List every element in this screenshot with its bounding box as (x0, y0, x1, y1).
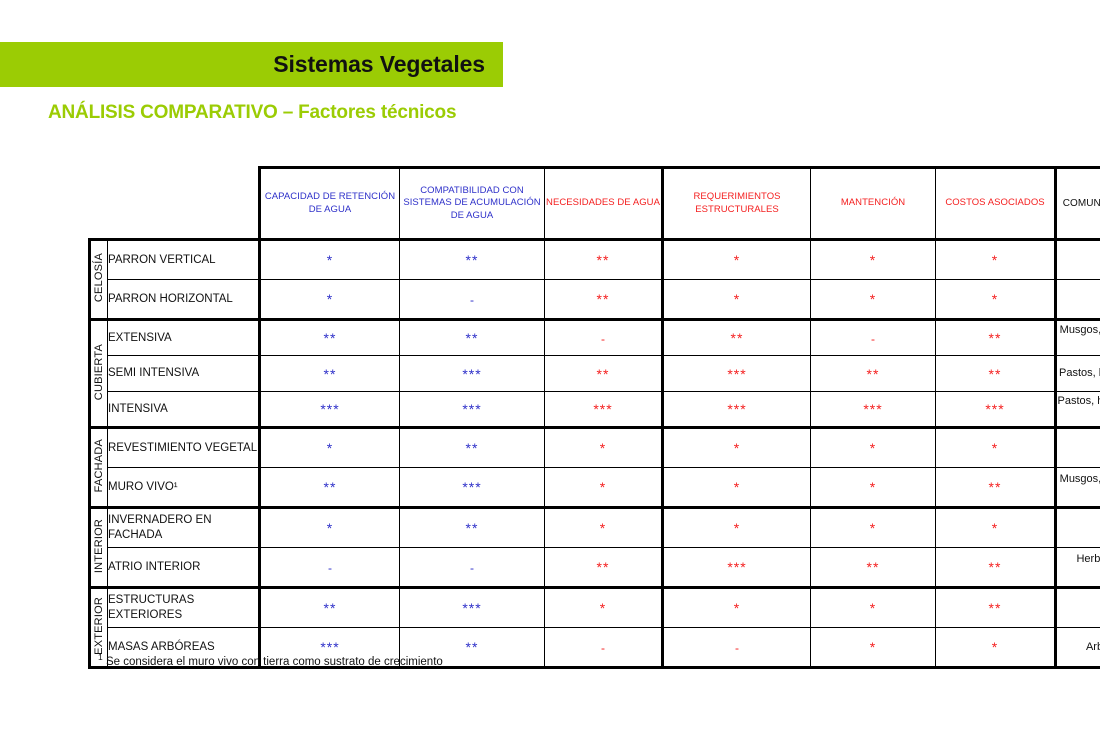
footnote-text: Se considera el muro vivo con tierra com… (106, 656, 443, 668)
col-header-comunidades: COMUNIDADES VEGETALES (1056, 168, 1100, 240)
rating-cell-requerimientos: * (663, 508, 811, 548)
rating-cell-mantencion: * (811, 280, 936, 320)
rating-cell-necesidades: ** (545, 280, 663, 320)
rating-cell-mantencion: ** (811, 548, 936, 588)
header-spacer-name (108, 168, 260, 240)
table-body: CELOSÍAPARRON VERTICAL********Trepadoras… (90, 240, 1100, 668)
rating-cell-compatibilidad: - (400, 548, 545, 588)
rating-cell-retencion: ** (260, 356, 400, 392)
row-label: EXTENSIVA (108, 320, 260, 356)
plant-communities-cell: Musgos, sedum, herbáceas y pastos (1056, 468, 1100, 508)
rating-cell-costos: ** (936, 588, 1056, 628)
comparison-table: CAPACIDAD DE RETENCIÓN DE AGUA COMPATIBI… (88, 166, 1100, 669)
row-group-category-label: FACHADA (94, 439, 105, 492)
plant-communities-cell: Trepadoras (1056, 508, 1100, 548)
rating-cell-mantencion: * (811, 588, 936, 628)
rating-cell-requerimientos: * (663, 468, 811, 508)
row-label: ESTRUCTURAS EXTERIORES (108, 588, 260, 628)
rating-cell-requerimientos: ** (663, 320, 811, 356)
rating-cell-costos: * (936, 240, 1056, 280)
rating-cell-costos: ** (936, 320, 1056, 356)
rating-cell-retencion: * (260, 428, 400, 468)
rating-cell-costos: ** (936, 356, 1056, 392)
rating-cell-costos: * (936, 628, 1056, 668)
table-row: MURO VIVO¹**********Musgos, sedum, herbá… (90, 468, 1100, 508)
rating-cell-requerimientos: * (663, 428, 811, 468)
rating-cell-requerimientos: *** (663, 548, 811, 588)
table-row: CELOSÍAPARRON VERTICAL********Trepadoras (90, 240, 1100, 280)
rating-cell-requerimientos: * (663, 588, 811, 628)
row-group-category-label: CUBIERTA (94, 344, 105, 400)
rating-cell-costos: ** (936, 468, 1056, 508)
rating-cell-mantencion: * (811, 240, 936, 280)
rating-cell-mantencion: - (811, 320, 936, 356)
row-group-category: CELOSÍA (90, 240, 108, 320)
title-banner: Sistemas Vegetales (0, 42, 503, 87)
table-row: PARRON HORIZONTAL*-*****Trepadoras (90, 280, 1100, 320)
rating-cell-mantencion: *** (811, 392, 936, 428)
page-title: Sistemas Vegetales (273, 51, 503, 78)
row-label: ATRIO INTERIOR (108, 548, 260, 588)
col-header-costos: COSTOS ASOCIADOS (936, 168, 1056, 240)
rating-cell-retencion: ** (260, 468, 400, 508)
row-label: MURO VIVO¹ (108, 468, 260, 508)
table-row: INTENSIVA******************Pastos, herbá… (90, 392, 1100, 428)
plant-communities-cell: Trepadoras (1056, 588, 1100, 628)
section-subtitle: ANÁLISIS COMPARATIVO – Factores técnicos (48, 102, 456, 124)
rating-cell-compatibilidad: *** (400, 468, 545, 508)
plant-communities-cell: Pastos, herbáceas y arbustos (1056, 356, 1100, 392)
table-header: CAPACIDAD DE RETENCIÓN DE AGUA COMPATIBI… (90, 168, 1100, 240)
table-row: EXTERIORESTRUCTURAS EXTERIORES**********… (90, 588, 1100, 628)
table-row: ATRIO INTERIOR--*********Herbáceas, arbu… (90, 548, 1100, 588)
rating-cell-necesidades: *** (545, 392, 663, 428)
rating-cell-requerimientos: * (663, 280, 811, 320)
rating-cell-necesidades: * (545, 468, 663, 508)
row-label: REVESTIMIENTO VEGETAL (108, 428, 260, 468)
rating-cell-necesidades: ** (545, 548, 663, 588)
row-group-category: INTERIOR (90, 508, 108, 588)
row-group-category-label: CELOSÍA (94, 253, 105, 302)
rating-cell-necesidades: * (545, 588, 663, 628)
plant-communities-cell: Musgos, sedum, herbáceas y pastos (1056, 320, 1100, 356)
rating-cell-compatibilidad: ** (400, 240, 545, 280)
rating-cell-requerimientos: *** (663, 392, 811, 428)
rating-cell-necesidades: - (545, 320, 663, 356)
col-header-requerimientos: REQUERIMIENTOS ESTRUCTURALES (663, 168, 811, 240)
header-row: CAPACIDAD DE RETENCIÓN DE AGUA COMPATIBI… (90, 168, 1100, 240)
row-group-category: FACHADA (90, 428, 108, 508)
rating-cell-compatibilidad: ** (400, 428, 545, 468)
table-row: SEMI INTENSIVA**************Pastos, herb… (90, 356, 1100, 392)
table-row: CUBIERTAEXTENSIVA****-**-**Musgos, sedum… (90, 320, 1100, 356)
rating-cell-mantencion: * (811, 508, 936, 548)
plant-communities-cell: Pastos, herbáceas, arbustos y árboles (1056, 392, 1100, 428)
rating-cell-requerimientos: *** (663, 356, 811, 392)
col-header-compatibilidad: COMPATIBILIDAD CON SISTEMAS DE ACUMULACI… (400, 168, 545, 240)
col-header-retencion: CAPACIDAD DE RETENCIÓN DE AGUA (260, 168, 400, 240)
rating-cell-requerimientos: * (663, 240, 811, 280)
header-spacer-category (90, 168, 108, 240)
plant-communities-cell: Trepadoras (1056, 428, 1100, 468)
row-label: PARRON HORIZONTAL (108, 280, 260, 320)
rating-cell-compatibilidad: ** (400, 508, 545, 548)
rating-cell-retencion: * (260, 508, 400, 548)
rating-cell-necesidades: ** (545, 356, 663, 392)
rating-cell-retencion: *** (260, 392, 400, 428)
rating-cell-retencion: ** (260, 320, 400, 356)
plant-communities-cell: Trepadoras (1056, 240, 1100, 280)
plant-communities-cell: Herbáceas, arbustos y árboles (1056, 548, 1100, 588)
rating-cell-compatibilidad: *** (400, 356, 545, 392)
rating-cell-mantencion: * (811, 428, 936, 468)
rating-cell-costos: * (936, 428, 1056, 468)
row-group-category-label: INTERIOR (94, 519, 105, 573)
row-label: PARRON VERTICAL (108, 240, 260, 280)
rating-cell-costos: * (936, 508, 1056, 548)
rating-cell-compatibilidad: *** (400, 588, 545, 628)
rating-cell-requerimientos: - (663, 628, 811, 668)
rating-cell-costos: *** (936, 392, 1056, 428)
comparison-table-wrapper: CAPACIDAD DE RETENCIÓN DE AGUA COMPATIBI… (88, 166, 1018, 669)
row-label: SEMI INTENSIVA (108, 356, 260, 392)
rating-cell-retencion: * (260, 240, 400, 280)
row-label: INTENSIVA (108, 392, 260, 428)
row-group-category: CUBIERTA (90, 320, 108, 428)
rating-cell-mantencion: * (811, 628, 936, 668)
col-header-mantencion: MANTENCIÓN (811, 168, 936, 240)
rating-cell-necesidades: - (545, 628, 663, 668)
rating-cell-necesidades: * (545, 508, 663, 548)
rating-cell-mantencion: ** (811, 356, 936, 392)
rating-cell-compatibilidad: *** (400, 392, 545, 428)
row-label: INVERNADERO EN FACHADA (108, 508, 260, 548)
table-footnote: 1 Se considera el muro vivo con tierra c… (98, 652, 443, 668)
plant-communities-cell: Trepadoras (1056, 280, 1100, 320)
table-row: INTERIORINVERNADERO EN FACHADA*******Tre… (90, 508, 1100, 548)
rating-cell-retencion: ** (260, 588, 400, 628)
rating-cell-retencion: - (260, 548, 400, 588)
rating-cell-costos: ** (936, 548, 1056, 588)
rating-cell-necesidades: * (545, 428, 663, 468)
rating-cell-compatibilidad: - (400, 280, 545, 320)
col-header-necesidades: NECESIDADES DE AGUA (545, 168, 663, 240)
footnote-marker: 1 (98, 652, 103, 662)
rating-cell-necesidades: ** (545, 240, 663, 280)
rating-cell-retencion: * (260, 280, 400, 320)
rating-cell-mantencion: * (811, 468, 936, 508)
plant-communities-cell: Arbustos y árboles (1056, 628, 1100, 668)
rating-cell-costos: * (936, 280, 1056, 320)
row-group-category-label: EXTERIOR (94, 597, 105, 655)
rating-cell-compatibilidad: ** (400, 320, 545, 356)
table-row: FACHADAREVESTIMIENTO VEGETAL*******Trepa… (90, 428, 1100, 468)
